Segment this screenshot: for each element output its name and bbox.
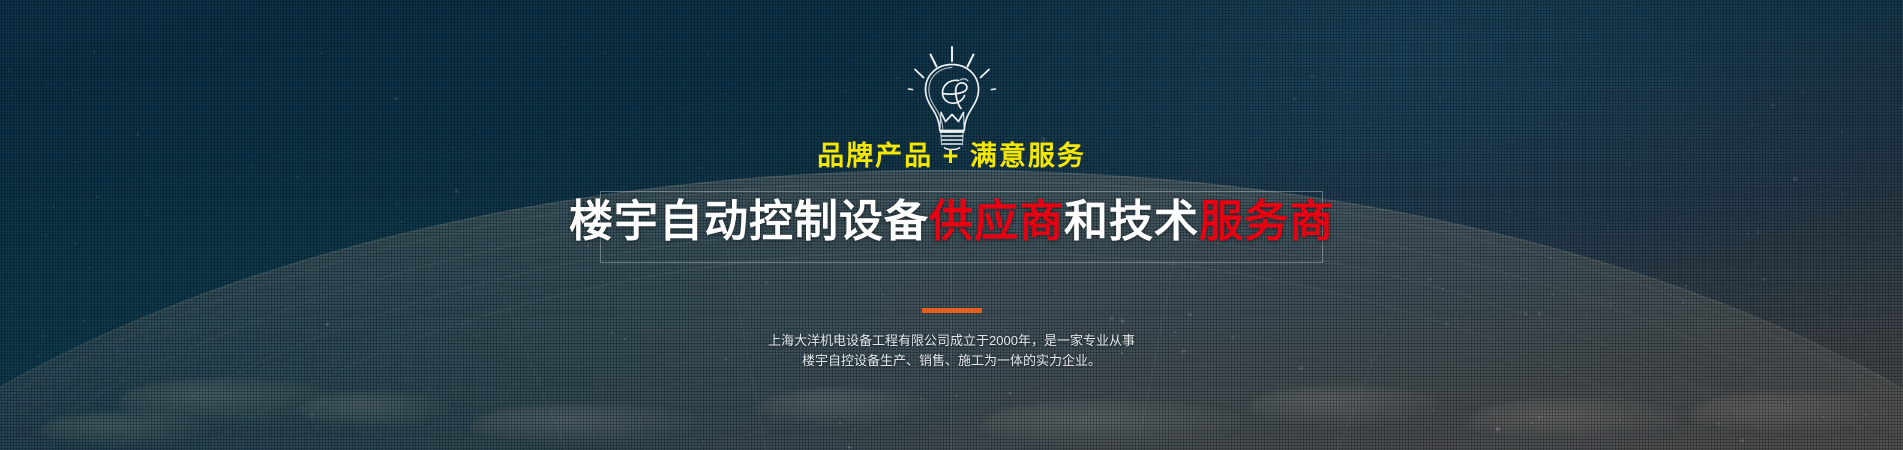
banner-description: 上海大洋机电设备工程有限公司成立于2000年，是一家专业从事 楼宇自控设备生产、… (768, 331, 1135, 371)
headline-segment-4: 服务商 (1199, 197, 1334, 246)
hero-banner: 品牌产品 + 满意服务 楼宇自动控制设备供应商和技术服务商 上海大洋机电设备工程… (0, 0, 1903, 450)
orange-divider (922, 308, 982, 313)
headline-segment-2: 供应商 (929, 197, 1064, 246)
banner-tagline: 品牌产品 + 满意服务 (817, 143, 1086, 170)
description-line-2: 楼宇自控设备生产、销售、施工为一体的实力企业。 (768, 351, 1135, 371)
description-line-1: 上海大洋机电设备工程有限公司成立于2000年，是一家专业从事 (768, 331, 1135, 351)
headline-segment-1: 楼宇自动控制设备 (569, 197, 929, 246)
lightbulb-idea-icon (900, 44, 1004, 152)
banner-headline: 楼宇自动控制设备供应商和技术服务商 (569, 197, 1334, 248)
headline-segment-3: 和技术 (1064, 197, 1199, 246)
banner-content: 品牌产品 + 满意服务 楼宇自动控制设备供应商和技术服务商 上海大洋机电设备工程… (0, 0, 1903, 450)
